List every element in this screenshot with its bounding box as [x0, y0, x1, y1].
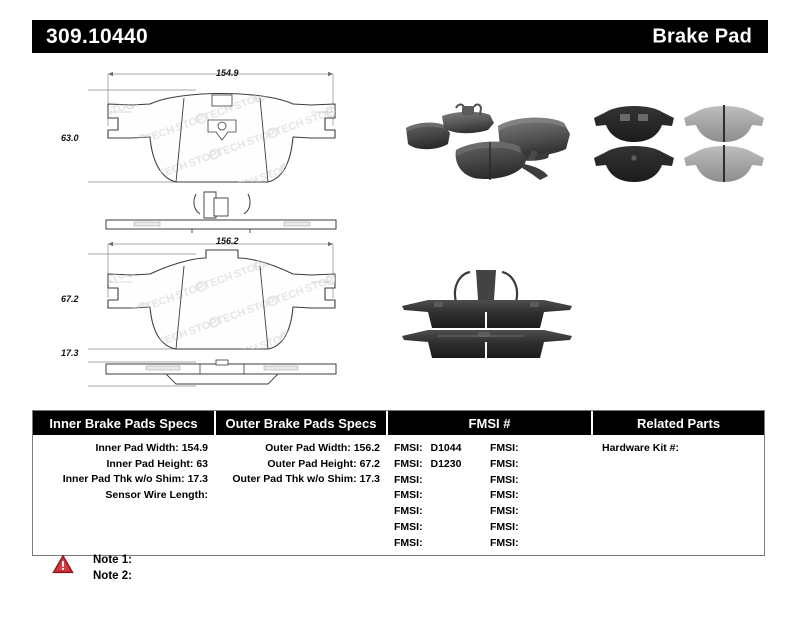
spec-value: 67.2	[360, 458, 380, 470]
fmsi-value	[519, 521, 524, 533]
fmsi-label: FMSI:	[490, 537, 519, 549]
header-bar: 309.10440 Brake Pad	[32, 20, 768, 53]
fmsi-value	[423, 505, 428, 517]
fmsi-row: FMSI:	[490, 457, 586, 473]
drawing-area: STOP TECH	[0, 58, 800, 398]
pad-pair-top-bottom-photo	[588, 94, 768, 186]
spec-row: Sensor Wire Length:	[33, 488, 216, 504]
spec-row: Outer Pad Width: 156.2	[216, 441, 388, 457]
warning-triangle-icon	[52, 554, 74, 574]
fmsi-row: FMSI:	[490, 536, 586, 552]
spec-row: Inner Pad Height: 63	[33, 457, 216, 473]
fmsi-row: FMSI:	[394, 520, 490, 536]
header-fmsi: FMSI #	[388, 411, 593, 435]
header-related-parts: Related Parts	[593, 411, 764, 435]
page-title: Brake Pad	[652, 25, 752, 48]
note-line-2: Note 2:	[93, 568, 132, 584]
fmsi-label: FMSI:	[394, 474, 423, 486]
notes-text-block: Note 1: Note 2:	[93, 552, 132, 584]
header-outer-specs: Outer Brake Pads Specs	[216, 411, 388, 435]
fmsi-label: FMSI:	[490, 489, 519, 501]
fmsi-row: FMSI:	[490, 441, 586, 457]
part-number: 309.10440	[46, 25, 148, 49]
fmsi-label: FMSI:	[490, 458, 519, 470]
spec-label: Outer Pad Height:	[267, 458, 356, 470]
fmsi-row: FMSI:	[394, 488, 490, 504]
fmsi-label: FMSI:	[490, 505, 519, 517]
spec-label: Sensor Wire Length:	[105, 489, 208, 501]
fmsi-row: FMSI:	[394, 473, 490, 489]
fmsi-value: D1230	[426, 458, 462, 470]
fmsi-value	[423, 521, 428, 533]
notes-section: Note 1: Note 2:	[52, 552, 132, 584]
spec-value: 17.3	[360, 473, 380, 485]
fmsi-row: FMSI: D1044	[394, 441, 490, 457]
spec-label: Inner Pad Width:	[95, 442, 178, 454]
header-inner-specs: Inner Brake Pads Specs	[33, 411, 216, 435]
spec-row: Outer Pad Thk w/o Shim: 17.3	[216, 472, 388, 488]
outer-specs-cell: Outer Pad Width: 156.2 Outer Pad Height:…	[216, 435, 388, 555]
related-part-row: Hardware Kit #:	[593, 441, 764, 457]
fmsi-row: FMSI: D1230	[394, 457, 490, 473]
fmsi-column-right: FMSI: FMSI: FMSI: FMSI: FMSI:	[490, 441, 586, 555]
fmsi-label: FMSI:	[490, 521, 519, 533]
fmsi-label: FMSI:	[394, 442, 423, 454]
spec-table-body: Inner Pad Width: 154.9 Inner Pad Height:…	[33, 435, 764, 555]
spec-row: Inner Pad Thk w/o Shim: 17.3	[33, 472, 216, 488]
inner-height-dimension: 63.0	[61, 133, 79, 143]
fmsi-value	[423, 474, 428, 486]
fmsi-row: FMSI:	[490, 488, 586, 504]
specifications-table: Inner Brake Pads Specs Outer Brake Pads …	[32, 410, 765, 556]
fmsi-row: FMSI:	[490, 504, 586, 520]
fmsi-row: FMSI:	[394, 504, 490, 520]
fmsi-label: FMSI:	[394, 521, 423, 533]
inner-specs-cell: Inner Pad Width: 154.9 Inner Pad Height:…	[33, 435, 216, 555]
fmsi-value: D1044	[426, 442, 462, 454]
outer-thickness-dimension: 17.3	[61, 348, 79, 358]
related-part-label: Hardware Kit #:	[602, 442, 679, 454]
spec-label: Outer Pad Width:	[265, 442, 351, 454]
pad-set-angled-photo	[398, 94, 580, 194]
note-line-1: Note 1:	[93, 552, 132, 568]
fmsi-value	[423, 537, 428, 549]
fmsi-value	[519, 505, 524, 517]
spec-table-header-row: Inner Brake Pads Specs Outer Brake Pads …	[33, 411, 764, 435]
fmsi-label: FMSI:	[394, 505, 423, 517]
spec-label: Outer Pad Thk w/o Shim:	[232, 473, 356, 485]
fmsi-value	[519, 474, 524, 486]
fmsi-label: FMSI:	[394, 489, 423, 501]
fmsi-column-left: FMSI: D1044 FMSI: D1230 FMSI: FMSI: FMSI…	[394, 441, 490, 555]
fmsi-row: FMSI:	[490, 473, 586, 489]
fmsi-row: FMSI:	[490, 520, 586, 536]
related-parts-cell: Hardware Kit #:	[593, 435, 764, 555]
spec-value: 154.9	[182, 442, 208, 454]
fmsi-row: FMSI:	[394, 536, 490, 552]
spec-value: 156.2	[354, 442, 380, 454]
fmsi-value	[519, 489, 524, 501]
fmsi-value	[519, 537, 524, 549]
fmsi-label: FMSI:	[394, 537, 423, 549]
spec-value: 63	[196, 458, 208, 470]
inner-width-dimension: 154.9	[216, 68, 239, 78]
fmsi-cell: FMSI: D1044 FMSI: D1230 FMSI: FMSI: FMSI…	[388, 435, 593, 555]
outer-pad-drawing: STOP TECH	[88, 236, 373, 396]
fmsi-label: FMSI:	[394, 458, 423, 470]
spec-label: Inner Pad Height:	[106, 458, 193, 470]
spec-row: Inner Pad Width: 154.9	[33, 441, 216, 457]
fmsi-value	[519, 442, 524, 454]
spec-row: Outer Pad Height: 67.2	[216, 457, 388, 473]
inner-pad-drawing: STOP TECH	[88, 68, 373, 233]
fmsi-label: FMSI:	[490, 442, 519, 454]
spec-label: Inner Pad Thk w/o Shim:	[63, 473, 185, 485]
outer-width-dimension: 156.2	[216, 236, 239, 246]
spec-value: 17.3	[188, 473, 208, 485]
fmsi-label: FMSI:	[490, 474, 519, 486]
outer-height-dimension: 67.2	[61, 294, 79, 304]
pad-edge-with-clip-photo	[394, 256, 580, 364]
fmsi-value	[519, 458, 524, 470]
fmsi-value	[423, 489, 428, 501]
